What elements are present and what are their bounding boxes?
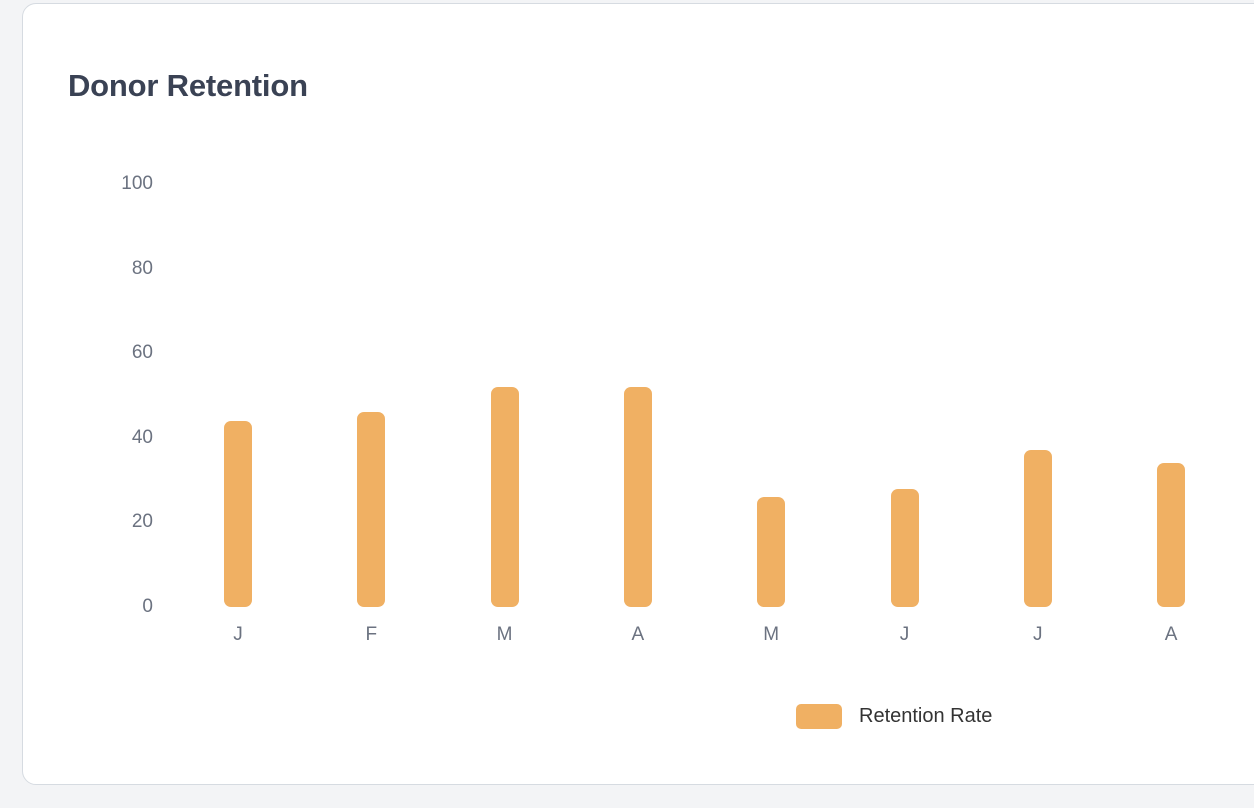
chart-card: Donor Retention 020406080100JFMAMJJA Ret… [22,3,1254,785]
y-axis-tick-label: 60 [83,342,153,364]
bar[interactable] [491,387,519,607]
y-axis-tick-label: 0 [83,596,153,618]
chart-legend: Retention Rate [796,704,992,729]
bar-chart-plot-area: 020406080100JFMAMJJA [23,4,1254,786]
legend-item[interactable]: Retention Rate [796,704,992,729]
bar[interactable] [757,497,785,607]
x-axis-tick-label: J [1008,624,1068,646]
bar[interactable] [891,489,919,607]
x-axis-tick-label: A [1141,624,1201,646]
bar[interactable] [357,412,385,607]
x-axis-tick-label: J [208,624,268,646]
bar[interactable] [1157,463,1185,607]
bar[interactable] [624,387,652,607]
y-axis-tick-label: 80 [83,258,153,280]
y-axis-tick-label: 40 [83,427,153,449]
x-axis-tick-label: F [341,624,401,646]
bar[interactable] [1024,450,1052,607]
bar[interactable] [224,421,252,607]
x-axis-tick-label: M [741,624,801,646]
x-axis-tick-label: A [608,624,668,646]
x-axis-tick-label: M [475,624,535,646]
y-axis-tick-label: 100 [83,173,153,195]
y-axis-tick-label: 20 [83,511,153,533]
legend-item-label: Retention Rate [859,705,992,728]
x-axis-tick-label: J [875,624,935,646]
legend-color-swatch [796,704,842,729]
